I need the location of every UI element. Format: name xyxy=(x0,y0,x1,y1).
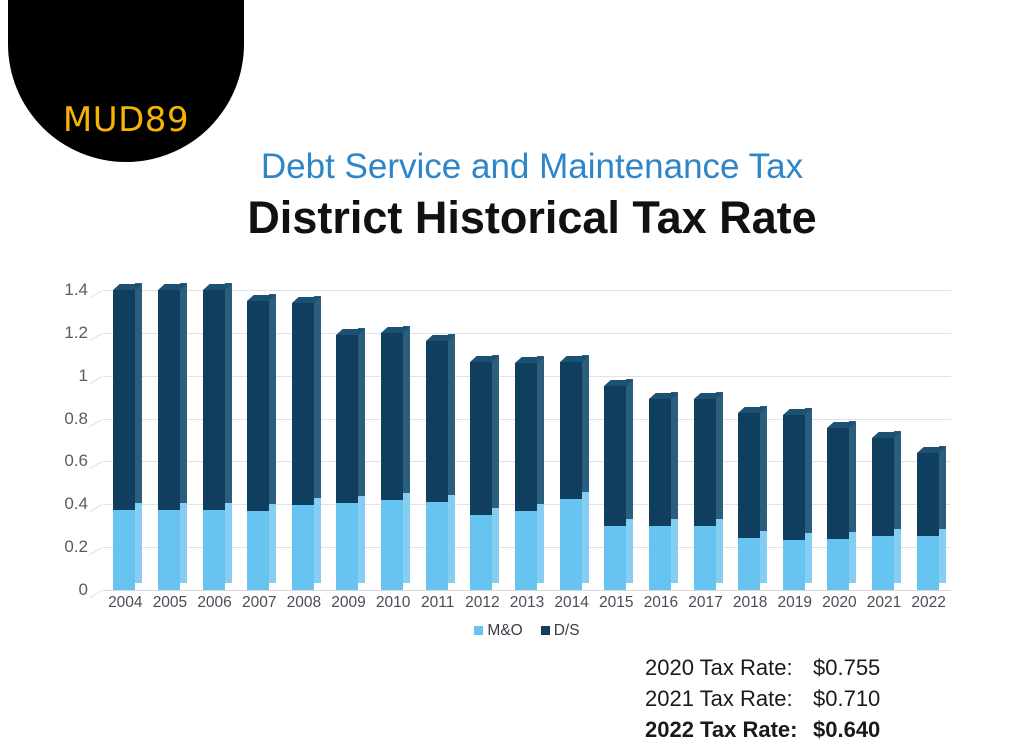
bar-segment-ds xyxy=(515,363,537,511)
y-axis-tick-label: 1.2 xyxy=(28,323,88,343)
legend-item-label: M&O xyxy=(487,622,522,639)
bar-side-face-mo xyxy=(314,498,321,583)
bar-side-face-mo xyxy=(582,492,589,583)
bar-side-face-mo xyxy=(849,532,856,583)
bar-side-face-mo xyxy=(358,496,365,583)
bar-front-face xyxy=(381,333,403,590)
bar-front-face xyxy=(604,386,626,590)
bar-side-face-ds xyxy=(849,421,856,531)
tax-rate-summary-row: 2021 Tax Rate:$0.710 xyxy=(645,683,975,714)
bar-segment-mo xyxy=(381,500,403,590)
bar-side-face-mo xyxy=(805,533,812,583)
x-axis-tick-label: 2022 xyxy=(906,594,951,612)
bar-front-face xyxy=(515,363,537,590)
bar-segment-mo xyxy=(470,515,492,590)
x-axis-tick-label: 2013 xyxy=(505,594,550,612)
page-title: District Historical Tax Rate xyxy=(0,190,1024,246)
gridline-depth-tick xyxy=(90,333,103,341)
chart-bar[interactable] xyxy=(827,428,849,590)
x-axis: 2004200520062007200820092010201120122013… xyxy=(103,594,951,618)
bar-side-face-ds xyxy=(582,355,589,492)
bar-segment-ds xyxy=(247,301,269,511)
y-axis-tick-label: 0.6 xyxy=(28,451,88,471)
y-axis: 00.20.40.60.811.21.4 xyxy=(18,290,88,590)
gridline-depth-tick xyxy=(90,290,103,298)
tax-rate-label: 2021 Tax Rate: xyxy=(645,683,813,714)
bar-front-face xyxy=(738,413,760,590)
bar-segment-mo xyxy=(827,539,849,590)
bar-front-face xyxy=(158,290,180,590)
plot-area xyxy=(103,290,951,590)
square-swatch-icon xyxy=(541,626,550,635)
bar-side-face-mo xyxy=(671,519,678,583)
x-axis-tick-label: 2016 xyxy=(639,594,684,612)
bar-segment-mo xyxy=(158,510,180,590)
bar-segment-mo xyxy=(604,526,626,590)
bar-segment-mo xyxy=(292,505,314,590)
gridline-depth-tick xyxy=(90,504,103,512)
legend-item[interactable]: D/S xyxy=(541,622,580,640)
tax-rate-value: $0.755 xyxy=(813,652,880,683)
bar-side-face-ds xyxy=(716,392,723,518)
bar-segment-mo xyxy=(694,526,716,590)
bar-segment-ds xyxy=(113,290,135,510)
bar-segment-ds xyxy=(381,333,403,500)
bar-front-face xyxy=(247,301,269,590)
bar-side-face-mo xyxy=(269,504,276,583)
bar-segment-ds xyxy=(470,362,492,515)
bar-segment-mo xyxy=(783,540,805,590)
bar-front-face xyxy=(113,290,135,590)
bar-side-face-ds xyxy=(180,283,187,503)
bar-side-face-mo xyxy=(716,519,723,583)
chart-bar[interactable] xyxy=(560,362,582,590)
square-swatch-icon xyxy=(474,626,483,635)
chart-bar[interactable] xyxy=(738,413,760,590)
chart-bar[interactable] xyxy=(515,363,537,590)
bar-segment-ds xyxy=(827,428,849,538)
x-axis-tick-label: 2021 xyxy=(862,594,907,612)
chart-bar[interactable] xyxy=(872,438,894,590)
bar-segment-ds xyxy=(783,415,805,539)
bar-side-face-mo xyxy=(492,508,499,583)
chart-bar[interactable] xyxy=(604,386,626,590)
bar-side-face-ds xyxy=(939,446,946,530)
bar-side-face-ds xyxy=(537,356,544,504)
y-axis-tick-label: 0.2 xyxy=(28,537,88,557)
bar-side-face-ds xyxy=(492,355,499,508)
bar-side-face-ds xyxy=(314,296,321,499)
gridline-depth-tick xyxy=(90,461,103,469)
bar-segment-ds xyxy=(336,335,358,503)
bar-side-face-mo xyxy=(626,519,633,583)
bar-side-face-mo xyxy=(403,493,410,583)
chart-bar[interactable] xyxy=(158,290,180,590)
x-axis-tick-label: 2005 xyxy=(148,594,193,612)
legend-item[interactable]: M&O xyxy=(474,622,522,640)
tax-rate-summary: 2020 Tax Rate:$0.7552021 Tax Rate:$0.710… xyxy=(645,652,975,745)
bar-side-face-mo xyxy=(225,503,232,583)
gridline-depth-tick xyxy=(90,547,103,555)
bar-side-face-ds xyxy=(358,328,365,496)
x-axis-tick-label: 2019 xyxy=(772,594,817,612)
x-axis-tick-label: 2017 xyxy=(683,594,728,612)
historical-tax-rate-chart: 00.20.40.60.811.21.4 2004200520062007200… xyxy=(0,282,1024,642)
gridline-depth-tick xyxy=(90,376,103,384)
chart-bar[interactable] xyxy=(649,399,671,590)
bar-front-face xyxy=(470,362,492,590)
tax-rate-label: 2020 Tax Rate: xyxy=(645,652,813,683)
tax-rate-summary-row: 2022 Tax Rate:$0.640 xyxy=(645,714,975,745)
chart-bar[interactable] xyxy=(917,453,939,590)
bar-segment-ds xyxy=(292,303,314,506)
bar-front-face xyxy=(872,438,894,590)
bar-segment-mo xyxy=(426,502,448,590)
bar-side-face-ds xyxy=(894,431,901,530)
bar-side-face-ds xyxy=(135,283,142,503)
bar-side-face-ds xyxy=(671,392,678,518)
bar-segment-ds xyxy=(560,362,582,499)
chart-bar[interactable] xyxy=(247,301,269,590)
bar-side-face-ds xyxy=(448,334,455,495)
bar-segment-ds xyxy=(917,453,939,537)
x-axis-tick-label: 2018 xyxy=(728,594,773,612)
legend-item-label: D/S xyxy=(554,622,580,639)
bar-segment-mo xyxy=(649,526,671,590)
x-axis-tick-label: 2011 xyxy=(415,594,460,612)
chart-bar[interactable] xyxy=(783,415,805,590)
chart-bar[interactable] xyxy=(426,341,448,590)
bar-front-face xyxy=(292,303,314,590)
bar-side-face-ds xyxy=(225,283,232,503)
gridline-depth-tick xyxy=(90,590,103,598)
bar-side-face-mo xyxy=(135,503,142,583)
x-axis-tick-label: 2012 xyxy=(460,594,505,612)
chart-bar[interactable] xyxy=(381,333,403,590)
gridline-depth-tick xyxy=(90,419,103,427)
chart-bar[interactable] xyxy=(203,290,225,590)
bar-segment-mo xyxy=(738,538,760,591)
x-axis-tick-label: 2007 xyxy=(237,594,282,612)
y-axis-tick-label: 1.4 xyxy=(28,280,88,300)
bar-segment-ds xyxy=(649,399,671,525)
x-axis-tick-label: 2020 xyxy=(817,594,862,612)
x-axis-tick-label: 2006 xyxy=(192,594,237,612)
bar-side-face-ds xyxy=(805,408,812,532)
bar-side-face-mo xyxy=(894,529,901,583)
chart-bar[interactable] xyxy=(694,399,716,590)
bar-front-face xyxy=(336,335,358,590)
tax-rate-summary-row: 2020 Tax Rate:$0.755 xyxy=(645,652,975,683)
bar-side-face-mo xyxy=(180,503,187,583)
bar-front-face xyxy=(917,453,939,590)
gridline xyxy=(103,590,951,591)
bar-segment-mo xyxy=(336,503,358,590)
bar-side-face-ds xyxy=(403,326,410,493)
x-axis-tick-label: 2004 xyxy=(103,594,148,612)
mud89-logo-badge: MUD89 xyxy=(8,0,244,162)
bar-segment-ds xyxy=(203,290,225,510)
tax-rate-value: $0.710 xyxy=(813,683,880,714)
bar-side-face-ds xyxy=(269,294,276,504)
bar-segment-ds xyxy=(694,399,716,525)
y-axis-tick-label: 0.4 xyxy=(28,494,88,514)
chart-bar[interactable] xyxy=(470,362,492,590)
bar-segment-mo xyxy=(515,511,537,590)
bar-side-face-ds xyxy=(626,379,633,518)
x-axis-tick-label: 2015 xyxy=(594,594,639,612)
bar-side-face-mo xyxy=(939,529,946,583)
bar-front-face xyxy=(827,428,849,590)
bar-segment-ds xyxy=(738,413,760,537)
y-axis-tick-label: 0 xyxy=(28,580,88,600)
bar-segment-mo xyxy=(113,510,135,590)
bar-front-face xyxy=(694,399,716,590)
bar-front-face xyxy=(560,362,582,590)
bar-segment-ds xyxy=(158,290,180,510)
bar-front-face xyxy=(649,399,671,590)
x-axis-tick-label: 2009 xyxy=(326,594,371,612)
tax-rate-value: $0.640 xyxy=(813,714,880,745)
x-axis-tick-label: 2014 xyxy=(549,594,594,612)
chart-legend: M&OD/S xyxy=(0,622,1024,640)
title-block: Debt Service and Maintenance Tax Distric… xyxy=(0,146,1024,246)
bar-side-face-mo xyxy=(448,495,455,583)
bar-segment-ds xyxy=(426,341,448,502)
tax-rate-label: 2022 Tax Rate: xyxy=(645,714,813,745)
bar-segment-mo xyxy=(247,511,269,590)
y-axis-tick-label: 0.8 xyxy=(28,409,88,429)
bar-side-face-ds xyxy=(760,406,767,530)
chart-subtitle: Debt Service and Maintenance Tax xyxy=(0,146,1024,188)
chart-bar[interactable] xyxy=(292,303,314,590)
bar-segment-mo xyxy=(917,536,939,590)
bar-segment-mo xyxy=(560,499,582,590)
bar-segment-mo xyxy=(872,536,894,590)
x-axis-tick-label: 2010 xyxy=(371,594,416,612)
logo-text: MUD89 xyxy=(8,100,244,140)
bar-front-face xyxy=(783,415,805,590)
bar-segment-ds xyxy=(872,438,894,537)
bar-front-face xyxy=(203,290,225,590)
bar-front-face xyxy=(426,341,448,590)
bar-side-face-mo xyxy=(760,531,767,584)
bar-segment-mo xyxy=(203,510,225,590)
x-axis-tick-label: 2008 xyxy=(282,594,327,612)
bar-side-face-mo xyxy=(537,504,544,583)
y-axis-tick-label: 1 xyxy=(28,366,88,386)
chart-bar[interactable] xyxy=(336,335,358,590)
bar-segment-ds xyxy=(604,386,626,525)
chart-bar[interactable] xyxy=(113,290,135,590)
